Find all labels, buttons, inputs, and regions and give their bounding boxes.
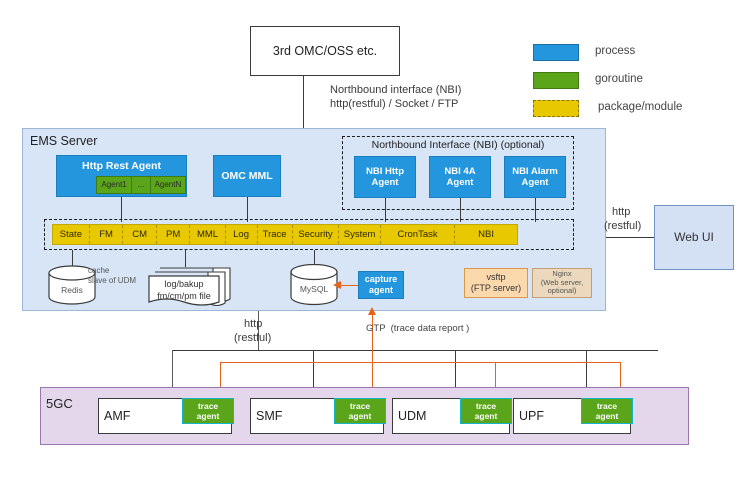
legend-label-goroutine: goroutine xyxy=(595,73,643,85)
nginx-line3: optional) xyxy=(548,287,577,296)
module-trace: Trace xyxy=(258,225,293,244)
capture-agent-box: capture agent xyxy=(358,271,404,299)
bus-gtp-horizontal xyxy=(220,362,620,363)
legend: process goroutine package/module xyxy=(533,42,733,120)
trace-agent-smf-line1: trace xyxy=(350,401,370,411)
nbi-link-label-line2: http(restful) / Socket / FTP xyxy=(330,98,458,110)
node-3rd-omc-oss: 3rd OMC/OSS etc. xyxy=(250,26,400,76)
trace-agent-smf-line2: agent xyxy=(349,411,372,421)
http-5gc-label-line2: (restful) xyxy=(234,332,271,344)
legend-label-package: package/module xyxy=(598,101,682,113)
connector-ems-to-webui xyxy=(606,237,654,238)
module-cm: CM xyxy=(123,225,157,244)
redis-note-line2: slave of UDM xyxy=(88,276,136,285)
ems-server-title: EMS Server xyxy=(30,134,97,148)
nbi-http-agent-line1: NBI Http xyxy=(366,166,404,177)
nbi-link-label-line1: Northbound interface (NBI) xyxy=(330,84,461,96)
module-state: State xyxy=(53,225,90,244)
trace-agent-amf-line2: agent xyxy=(197,411,220,421)
module-crontask: CronTask xyxy=(381,225,455,244)
file-store: log/bakup fm/cm/pm file xyxy=(146,266,232,308)
module-security: Security xyxy=(293,225,340,244)
architecture-diagram: 3rd OMC/OSS etc. Northbound interface (N… xyxy=(0,0,751,481)
http-rest-agent-goroutines: Agent1 ... AgentN xyxy=(96,176,186,194)
module-pm: PM xyxy=(157,225,191,244)
nginx-box: Nginx (Web server, optional) xyxy=(532,268,592,298)
nbi-alarm-agent-box: NBI Alarm Agent xyxy=(504,156,566,198)
gtp-label: GTP (trace data report ) xyxy=(366,323,469,334)
http-rest-agent-box: Http Rest Agent Agent1 ... AgentN xyxy=(56,155,187,197)
module-system: System xyxy=(339,225,381,244)
omc-mml-box: OMC MML xyxy=(213,155,281,197)
file-store-line2: fm/cm/pm file xyxy=(149,291,219,301)
goroutine-ellipsis: ... xyxy=(132,176,151,194)
vsftp-box: vsftp (FTP server) xyxy=(464,268,528,298)
capture-agent-line2: agent xyxy=(369,285,393,296)
nf-udm-label: UDM xyxy=(398,409,426,423)
module-mml: MML xyxy=(190,225,225,244)
nbi-4a-agent-line2: Agent xyxy=(447,177,474,188)
nf-udm: UDM trace agent xyxy=(392,398,510,434)
vsftp-line1: vsftp xyxy=(486,272,505,283)
mysql-label: MySQL xyxy=(290,284,338,294)
omc-mml-label: OMC MML xyxy=(221,170,272,182)
trace-agent-amf-line1: trace xyxy=(198,401,218,411)
node-3rd-omc-oss-label: 3rd OMC/OSS etc. xyxy=(273,44,377,59)
nf-amf-label: AMF xyxy=(104,409,130,423)
arrow-gtp-to-capture xyxy=(368,307,376,315)
nf-smf: SMF trace agent xyxy=(250,398,384,434)
web-ui-box: Web UI xyxy=(654,205,734,270)
connector-omc-to-ems xyxy=(303,76,304,128)
nf-smf-label: SMF xyxy=(256,409,282,423)
nbi-alarm-agent-line2: Agent xyxy=(522,177,549,188)
http-5gc-label-line1: http xyxy=(244,318,262,330)
connector-capture-to-mysql xyxy=(340,285,358,286)
legend-swatch-goroutine xyxy=(533,72,579,89)
webui-link-line1: http xyxy=(612,206,630,218)
nbi-group-title: Northbound Interface (NBI) (optional) xyxy=(342,139,574,152)
nf-upf-label: UPF xyxy=(519,409,544,423)
nbi-http-agent-box: NBI Http Agent xyxy=(354,156,416,198)
trace-agent-udm-line1: trace xyxy=(476,401,496,411)
gc-title: 5GC xyxy=(46,396,73,411)
file-store-line1: log/bakup xyxy=(149,279,219,289)
module-fm: FM xyxy=(90,225,124,244)
mysql-datastore: MySQL xyxy=(290,264,338,306)
module-strip: State FM CM PM MML Log Trace Security Sy… xyxy=(52,224,518,245)
redis-note-line1: cache xyxy=(88,266,109,275)
redis-label: Redis xyxy=(48,285,96,295)
webui-link-line2: (restful) xyxy=(604,220,641,232)
trace-agent-udm-line2: agent xyxy=(475,411,498,421)
module-log: Log xyxy=(226,225,258,244)
web-ui-label: Web UI xyxy=(674,230,714,244)
trace-agent-udm: trace agent xyxy=(460,398,512,424)
legend-label-process: process xyxy=(595,45,635,57)
http-rest-agent-title: Http Rest Agent xyxy=(57,159,186,173)
connector-http-trunk xyxy=(258,311,259,350)
arrow-capture-to-mysql xyxy=(333,281,341,289)
trace-agent-amf: trace agent xyxy=(182,398,234,424)
nbi-4a-agent-box: NBI 4A Agent xyxy=(429,156,491,198)
nf-amf: AMF trace agent xyxy=(98,398,232,434)
nbi-http-agent-line2: Agent xyxy=(372,177,399,188)
module-nbi: NBI xyxy=(455,225,517,244)
connector-modules-to-files xyxy=(185,250,186,267)
capture-agent-line1: capture xyxy=(365,274,398,285)
nbi-alarm-agent-line1: NBI Alarm xyxy=(512,166,558,177)
trace-agent-upf: trace agent xyxy=(581,398,633,424)
nbi-4a-agent-line1: NBI 4A xyxy=(444,166,475,177)
nf-upf: UPF trace agent xyxy=(513,398,631,434)
trace-agent-upf-line2: agent xyxy=(596,411,619,421)
goroutine-agent1: Agent1 xyxy=(96,176,132,194)
legend-swatch-process xyxy=(533,44,579,61)
legend-swatch-package xyxy=(533,100,579,117)
trace-agent-upf-line1: trace xyxy=(597,401,617,411)
goroutine-agentn: AgentN xyxy=(151,176,186,194)
vsftp-line2: (FTP server) xyxy=(471,283,521,294)
connector-gtp-trunk xyxy=(372,314,373,362)
trace-agent-smf: trace agent xyxy=(334,398,386,424)
